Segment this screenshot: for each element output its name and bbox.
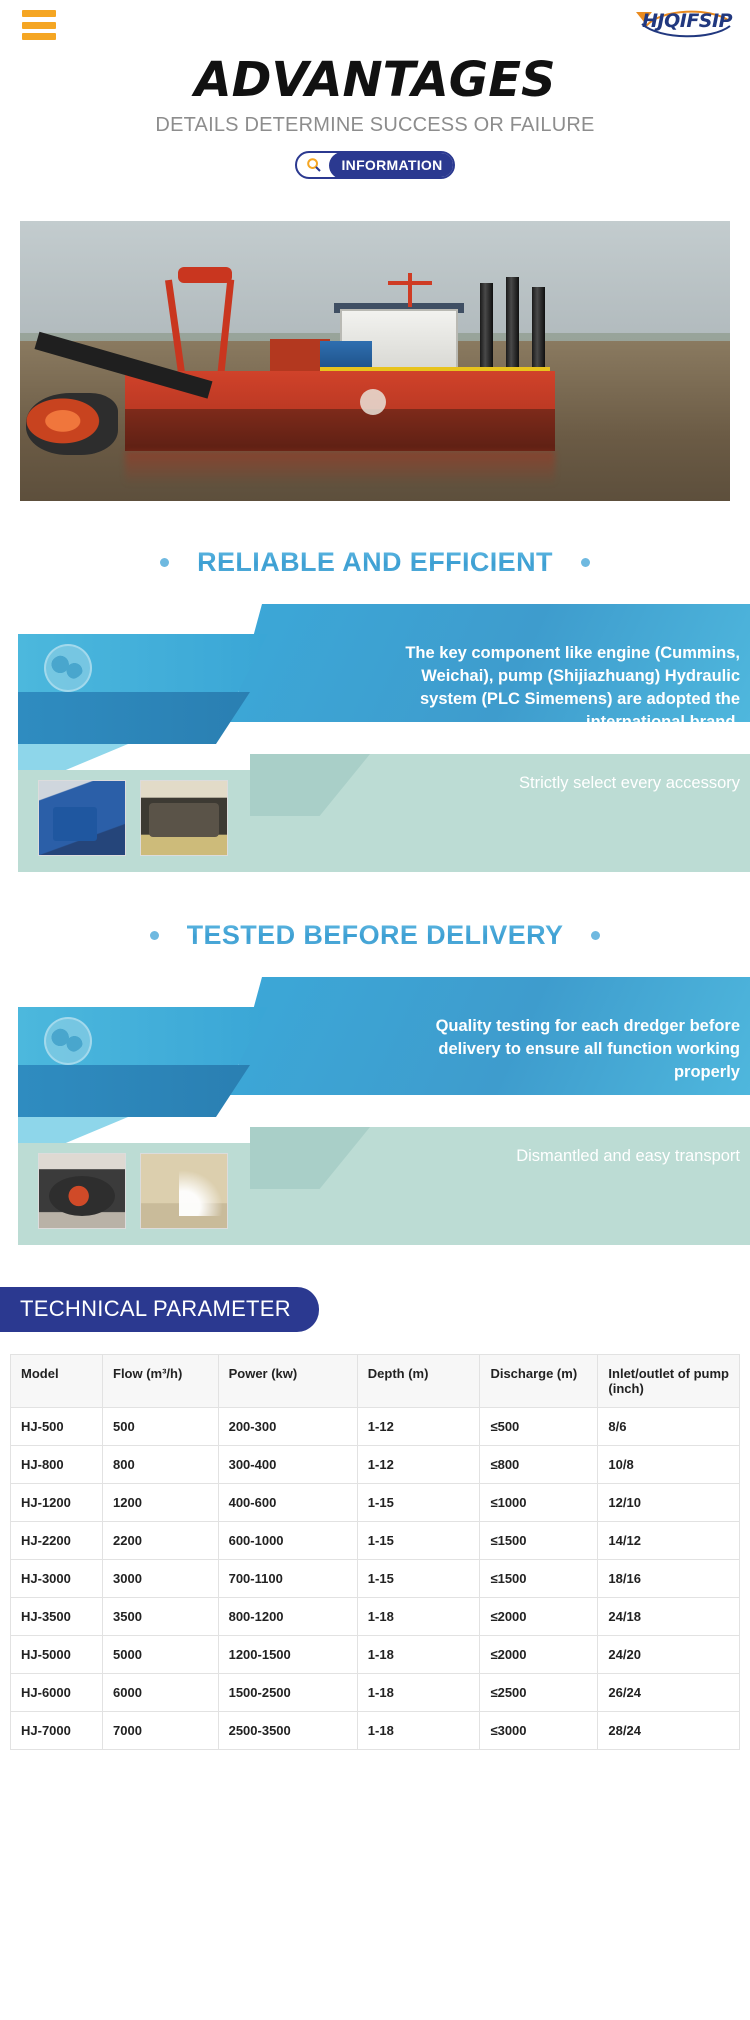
- cell-model: HJ-2200: [11, 1522, 103, 1560]
- feature-sub-text: Dismantled and easy transport: [440, 1145, 740, 1168]
- cell-depth: 1-15: [357, 1522, 480, 1560]
- cell-flow: 800: [103, 1446, 219, 1484]
- cell-flow: 2200: [103, 1522, 219, 1560]
- cell-model: HJ-800: [11, 1446, 103, 1484]
- hero-water-reflection: [125, 451, 555, 485]
- cell-depth: 1-18: [357, 1598, 480, 1636]
- motor-photo: [140, 780, 228, 856]
- technical-parameter-table: Model Flow (m³/h) Power (kw) Depth (m) D…: [10, 1354, 740, 1750]
- cell-discharge: ≤3000: [480, 1712, 598, 1750]
- page-subtitle: DETAILS DETERMINE SUCCESS OR FAILURE: [0, 114, 750, 137]
- technical-parameter-label: TECHNICAL PARAMETER: [0, 1287, 319, 1332]
- information-button[interactable]: INFORMATION: [295, 151, 454, 179]
- top-bar: HJQIFSIP: [0, 0, 750, 48]
- feature-band-left-dark: [18, 1065, 250, 1117]
- cell-depth: 1-12: [357, 1446, 480, 1484]
- hero-mast-arm: [388, 281, 432, 285]
- cell-inlet: 14/12: [598, 1522, 740, 1560]
- cell-power: 200-300: [218, 1408, 357, 1446]
- hamburger-bar: [22, 10, 56, 17]
- section-heading-text: RELIABLE AND EFFICIENT: [197, 547, 553, 578]
- table-row: HJ-800800300-4001-12≤80010/8: [11, 1446, 740, 1484]
- table-header-row: Model Flow (m³/h) Power (kw) Depth (m) D…: [11, 1355, 740, 1408]
- cell-inlet: 24/18: [598, 1598, 740, 1636]
- hero-cutter-head: [26, 393, 118, 455]
- table-row: HJ-700070002500-35001-18≤300028/24: [11, 1712, 740, 1750]
- cell-flow: 3000: [103, 1560, 219, 1598]
- table-row: HJ-500500200-3001-12≤5008/6: [11, 1408, 740, 1446]
- hamburger-bar: [22, 33, 56, 40]
- cell-inlet: 12/10: [598, 1484, 740, 1522]
- cell-discharge: ≤1500: [480, 1560, 598, 1598]
- feature-main-text: The key component like engine (Cummins, …: [380, 642, 740, 734]
- table-row: HJ-30003000700-11001-15≤150018/16: [11, 1560, 740, 1598]
- technical-parameter-header: TECHNICAL PARAMETER: [0, 1287, 750, 1332]
- section-heading-text: TESTED BEFORE DELIVERY: [187, 920, 564, 951]
- cell-model: HJ-5000: [11, 1636, 103, 1674]
- bullet-dot-icon: [581, 558, 590, 567]
- hero-hull-emblem: [360, 389, 386, 415]
- information-button-label: INFORMATION: [329, 152, 454, 179]
- hero-crane-top: [178, 267, 232, 283]
- cell-model: HJ-6000: [11, 1674, 103, 1712]
- cell-model: HJ-3000: [11, 1560, 103, 1598]
- hero-image: [20, 221, 730, 501]
- cell-power: 600-1000: [218, 1522, 357, 1560]
- feature-thumbnails: [38, 1153, 228, 1229]
- cell-inlet: 10/8: [598, 1446, 740, 1484]
- cell-power: 800-1200: [218, 1598, 357, 1636]
- cell-depth: 1-12: [357, 1408, 480, 1446]
- cell-discharge: ≤2000: [480, 1636, 598, 1674]
- cell-depth: 1-18: [357, 1636, 480, 1674]
- table-row: HJ-600060001500-25001-18≤250026/24: [11, 1674, 740, 1712]
- table-row: HJ-12001200400-6001-15≤100012/10: [11, 1484, 740, 1522]
- cell-inlet: 24/20: [598, 1636, 740, 1674]
- cell-flow: 500: [103, 1408, 219, 1446]
- bullet-dot-icon: [591, 931, 600, 940]
- section-heading-reliable: RELIABLE AND EFFICIENT: [0, 547, 750, 578]
- cell-model: HJ-1200: [11, 1484, 103, 1522]
- magnifier-icon: [301, 154, 327, 176]
- cell-model: HJ-7000: [11, 1712, 103, 1750]
- feature-band-left-dark: [18, 692, 250, 744]
- cell-flow: 7000: [103, 1712, 219, 1750]
- column-header-flow: Flow (m³/h): [103, 1355, 219, 1408]
- hero-mast: [408, 273, 412, 307]
- cell-depth: 1-18: [357, 1674, 480, 1712]
- table-row: HJ-500050001200-15001-18≤200024/20: [11, 1636, 740, 1674]
- cell-power: 300-400: [218, 1446, 357, 1484]
- cell-power: 1500-2500: [218, 1674, 357, 1712]
- cell-discharge: ≤2000: [480, 1598, 598, 1636]
- cell-inlet: 8/6: [598, 1408, 740, 1446]
- column-header-power: Power (kw): [218, 1355, 357, 1408]
- hamburger-bar: [22, 22, 56, 29]
- brand-logo[interactable]: HJQIFSIP: [642, 10, 732, 32]
- hamburger-menu-icon[interactable]: [22, 10, 56, 40]
- cell-discharge: ≤800: [480, 1446, 598, 1484]
- cell-discharge: ≤1000: [480, 1484, 598, 1522]
- feature-thumbnails: [38, 780, 228, 856]
- cell-discharge: ≤1500: [480, 1522, 598, 1560]
- feature-block-reliable: The key component like engine (Cummins, …: [0, 604, 750, 874]
- hero-hull-lower: [125, 409, 555, 451]
- feature-sub-text: Strictly select every accessory: [440, 772, 740, 795]
- cell-inlet: 18/16: [598, 1560, 740, 1598]
- cell-depth: 1-15: [357, 1560, 480, 1598]
- column-header-model: Model: [11, 1355, 103, 1408]
- column-header-inlet: Inlet/outlet of pump (inch): [598, 1355, 740, 1408]
- bullet-dot-icon: [160, 558, 169, 567]
- cell-model: HJ-500: [11, 1408, 103, 1446]
- cell-flow: 1200: [103, 1484, 219, 1522]
- cell-inlet: 28/24: [598, 1712, 740, 1750]
- table-row: HJ-22002200600-10001-15≤150014/12: [11, 1522, 740, 1560]
- cell-inlet: 26/24: [598, 1674, 740, 1712]
- globe-icon: [44, 1017, 92, 1065]
- table-row: HJ-35003500800-12001-18≤200024/18: [11, 1598, 740, 1636]
- column-header-discharge: Discharge (m): [480, 1355, 598, 1408]
- cutter-head-photo: [38, 1153, 126, 1229]
- engine-photo: [38, 780, 126, 856]
- cell-model: HJ-3500: [11, 1598, 103, 1636]
- cell-flow: 6000: [103, 1674, 219, 1712]
- section-heading-tested: TESTED BEFORE DELIVERY: [0, 920, 750, 951]
- bullet-dot-icon: [150, 931, 159, 940]
- discharge-test-photo: [140, 1153, 228, 1229]
- info-button-row: INFORMATION: [0, 151, 750, 179]
- cell-depth: 1-15: [357, 1484, 480, 1522]
- cell-power: 1200-1500: [218, 1636, 357, 1674]
- cell-flow: 3500: [103, 1598, 219, 1636]
- cell-power: 2500-3500: [218, 1712, 357, 1750]
- cell-depth: 1-18: [357, 1712, 480, 1750]
- globe-icon: [44, 644, 92, 692]
- feature-block-tested: Quality testing for each dredger before …: [0, 977, 750, 1247]
- table-body: HJ-500500200-3001-12≤5008/6HJ-800800300-…: [11, 1408, 740, 1750]
- cell-flow: 5000: [103, 1636, 219, 1674]
- page-title: ADVANTAGES: [0, 52, 750, 108]
- cell-power: 400-600: [218, 1484, 357, 1522]
- cell-power: 700-1100: [218, 1560, 357, 1598]
- cell-discharge: ≤500: [480, 1408, 598, 1446]
- cell-discharge: ≤2500: [480, 1674, 598, 1712]
- column-header-depth: Depth (m): [357, 1355, 480, 1408]
- feature-main-text: Quality testing for each dredger before …: [380, 1015, 740, 1084]
